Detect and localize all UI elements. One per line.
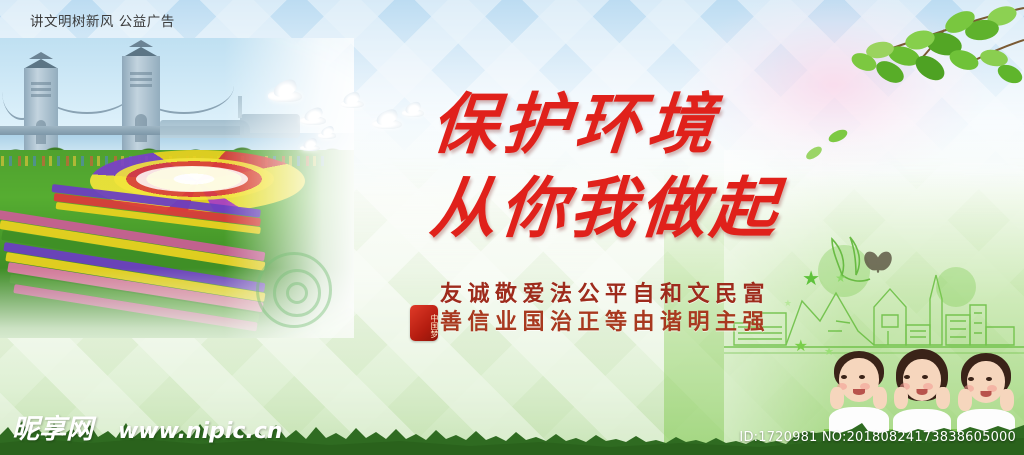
- star-icon: ★: [835, 272, 846, 284]
- headline: 保护环境 从你我做起: [421, 82, 876, 250]
- pagoda-roof-upper: [129, 40, 153, 47]
- star-icon: ★: [784, 300, 792, 309]
- poster-canvas: ★ ★ ★ ★ ★: [0, 0, 1024, 455]
- dove-icon: [402, 104, 424, 120]
- tagline-text: 讲文明树新风 公益广告: [30, 10, 175, 30]
- pagoda-roof-upper: [29, 52, 53, 59]
- headline-line-1: 保护环境: [428, 82, 875, 166]
- core-values-row-2: 善信业国治正等由谐明主强: [440, 308, 770, 336]
- watermark-site-name: 昵享网: [12, 407, 93, 446]
- pagoda-roof: [125, 47, 157, 56]
- dove-icon: [300, 110, 326, 128]
- pagoda-roof: [25, 59, 57, 68]
- image-id-text: ID:1720981 NO:20180824173838605000: [739, 430, 1016, 445]
- bridge-tower-right: [122, 56, 160, 152]
- dove-icon: [300, 140, 320, 154]
- dove-icon: [268, 82, 302, 106]
- core-values-text: 友诚敬爱法公平自和文民富 善信业国治正等由谐明主强: [440, 280, 770, 336]
- seal-text: 中国梦: [430, 310, 438, 341]
- bridge-tower-left: [24, 68, 58, 152]
- dove-icon: [340, 94, 364, 111]
- dove-icon: [318, 128, 336, 141]
- star-icon: ★: [794, 338, 808, 354]
- star-icon: ★: [802, 268, 820, 288]
- watermark-site-url: www.nipic.cn: [118, 419, 283, 444]
- headline-line-2: 从你我做起: [427, 166, 868, 250]
- swirl-ornament: [256, 252, 332, 328]
- core-values-row-1: 友诚敬爱法公平自和文民富: [440, 280, 770, 308]
- dove-icon: [372, 112, 402, 133]
- red-seal-stamp: 中国梦: [410, 305, 438, 341]
